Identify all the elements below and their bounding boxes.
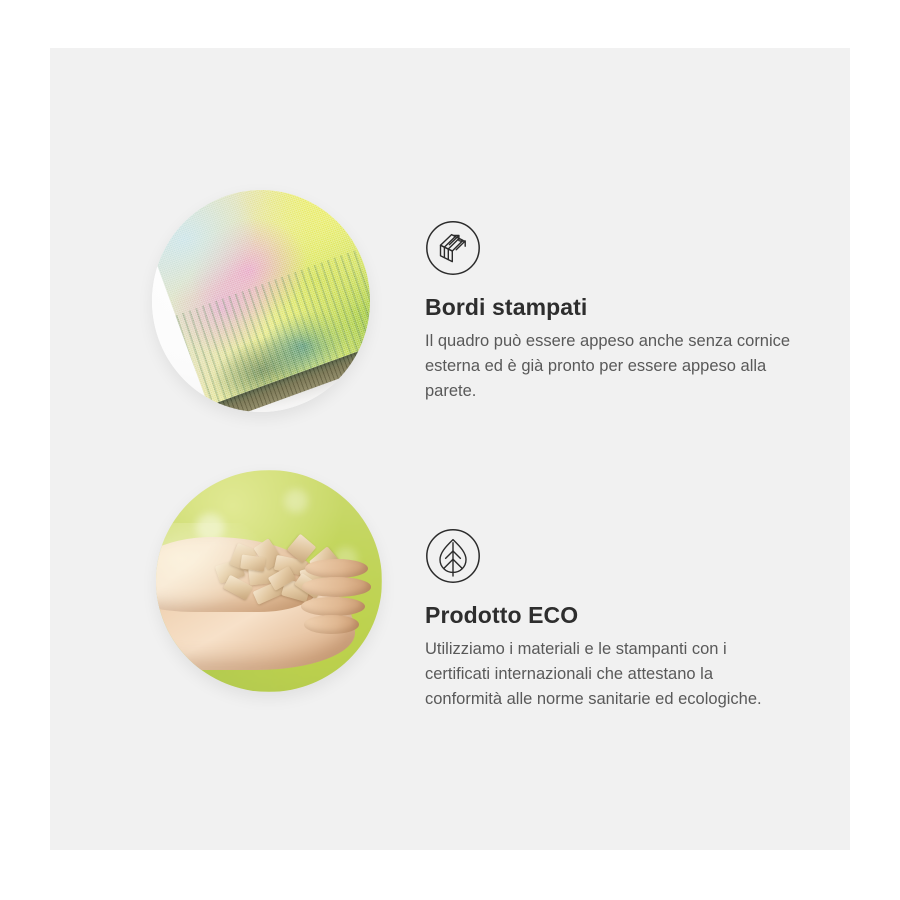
sunlight-glow	[156, 523, 269, 612]
fingers	[301, 559, 378, 634]
feature-description: Il quadro può essere appeso anche senza …	[425, 329, 793, 404]
page-root: Bordi stampati Il quadro può essere appe…	[0, 0, 900, 900]
canvas-printed-edge-photo	[152, 190, 370, 412]
feature-copy-printed-edges: Bordi stampati Il quadro può essere appe…	[425, 220, 805, 404]
printed-edges-icon	[425, 220, 481, 276]
feature-title: Prodotto ECO	[425, 602, 805, 630]
feature-description: Utilizziamo i materiali e le stampanti c…	[425, 637, 793, 712]
wood-chips-in-hands-photo	[156, 470, 382, 692]
content-panel: Bordi stampati Il quadro può essere appe…	[50, 48, 850, 850]
feature-copy-eco-product: Prodotto ECO Utilizziamo i materiali e l…	[425, 528, 805, 712]
leaf-icon	[425, 528, 481, 584]
feature-title: Bordi stampati	[425, 294, 805, 322]
